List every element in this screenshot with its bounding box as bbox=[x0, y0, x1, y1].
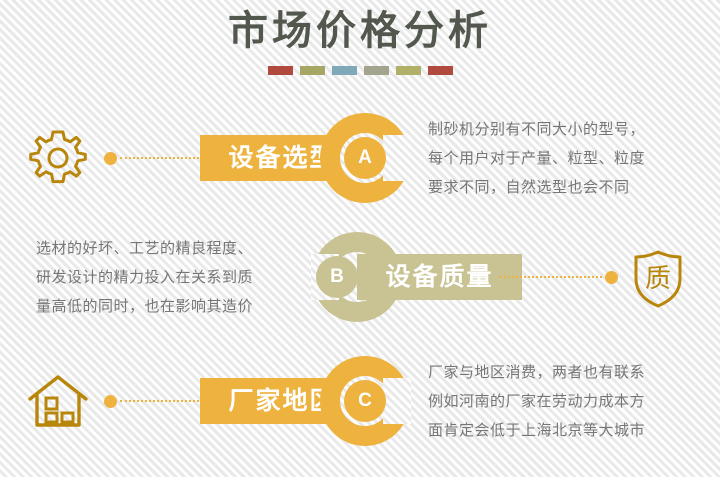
badge-b: B bbox=[316, 256, 358, 298]
paragraph-line: 制砂机分别有不同大小的型号， bbox=[428, 115, 686, 144]
connector-dotted-line bbox=[499, 276, 602, 278]
shield-glyph: 质 bbox=[645, 264, 671, 294]
badge-a: A bbox=[344, 137, 386, 179]
page-title: 市场价格分析 bbox=[0, 6, 720, 56]
paragraph-line: 要求不同，自然选型也会不同 bbox=[428, 173, 686, 202]
paragraph-b: 选材的好坏、工艺的精良程度、 研发设计的精力投入在关系到质 量高低的同时，也在影… bbox=[36, 234, 294, 321]
gear-icon bbox=[22, 122, 94, 194]
divider-dash-3 bbox=[332, 66, 357, 75]
connector-dot bbox=[104, 152, 117, 165]
header-block: 市场价格分析 bbox=[0, 6, 720, 75]
shield-quality-icon: 质 bbox=[622, 241, 694, 313]
divider-dash-1 bbox=[268, 66, 293, 75]
divider-dash-6 bbox=[428, 66, 453, 75]
section-row-b: 选材的好坏、工艺的精良程度、 研发设计的精力投入在关系到质 量高低的同时，也在影… bbox=[0, 222, 720, 332]
house-factory-icon bbox=[22, 365, 94, 437]
paragraph-line: 厂家与地区消费，两者也有联系 bbox=[428, 358, 686, 387]
infographic-page: 市场价格分析 设备选型 bbox=[0, 0, 720, 477]
connector-line-b bbox=[496, 270, 618, 284]
divider-dash-4 bbox=[364, 66, 389, 75]
paragraph-line: 选材的好坏、工艺的精良程度、 bbox=[36, 234, 294, 263]
paragraph-line: 研发设计的精力投入在关系到质 bbox=[36, 263, 294, 292]
connector-dot bbox=[104, 395, 117, 408]
paragraph-c: 厂家与地区消费，两者也有联系 例如河南的厂家在劳动力成本方 面肯定会低于上海北京… bbox=[428, 358, 686, 445]
paragraph-line: 例如河南的厂家在劳动力成本方 bbox=[428, 387, 686, 416]
ring-notch bbox=[383, 135, 411, 181]
paragraph-line: 每个用户对于产量、粒型、粒度 bbox=[428, 144, 686, 173]
banner-label-b: 设备质量 bbox=[385, 254, 493, 300]
badge-c: C bbox=[344, 380, 386, 422]
ring-notch bbox=[383, 378, 411, 424]
section-row-a: 设备选型 A 制砂机分别有不同大小的型号， 每个用户对于产量、粒型、粒度 要求不… bbox=[0, 103, 720, 213]
paragraph-line: 量高低的同时，也在影响其造价 bbox=[36, 292, 294, 321]
divider-dash-2 bbox=[300, 66, 325, 75]
paragraph-a: 制砂机分别有不同大小的型号， 每个用户对于产量、粒型、粒度 要求不同，自然选型也… bbox=[428, 115, 686, 202]
section-row-c: 厂家地区 C 厂家与地区消费，两者也有联系 例如河南的厂家在劳动力成本方 面肯定… bbox=[0, 346, 720, 456]
paragraph-line: 面肯定会低于上海北京等大城市 bbox=[428, 416, 686, 445]
connector-dot bbox=[605, 271, 618, 284]
divider-dash-5 bbox=[396, 66, 421, 75]
title-divider-dashes bbox=[0, 66, 720, 75]
